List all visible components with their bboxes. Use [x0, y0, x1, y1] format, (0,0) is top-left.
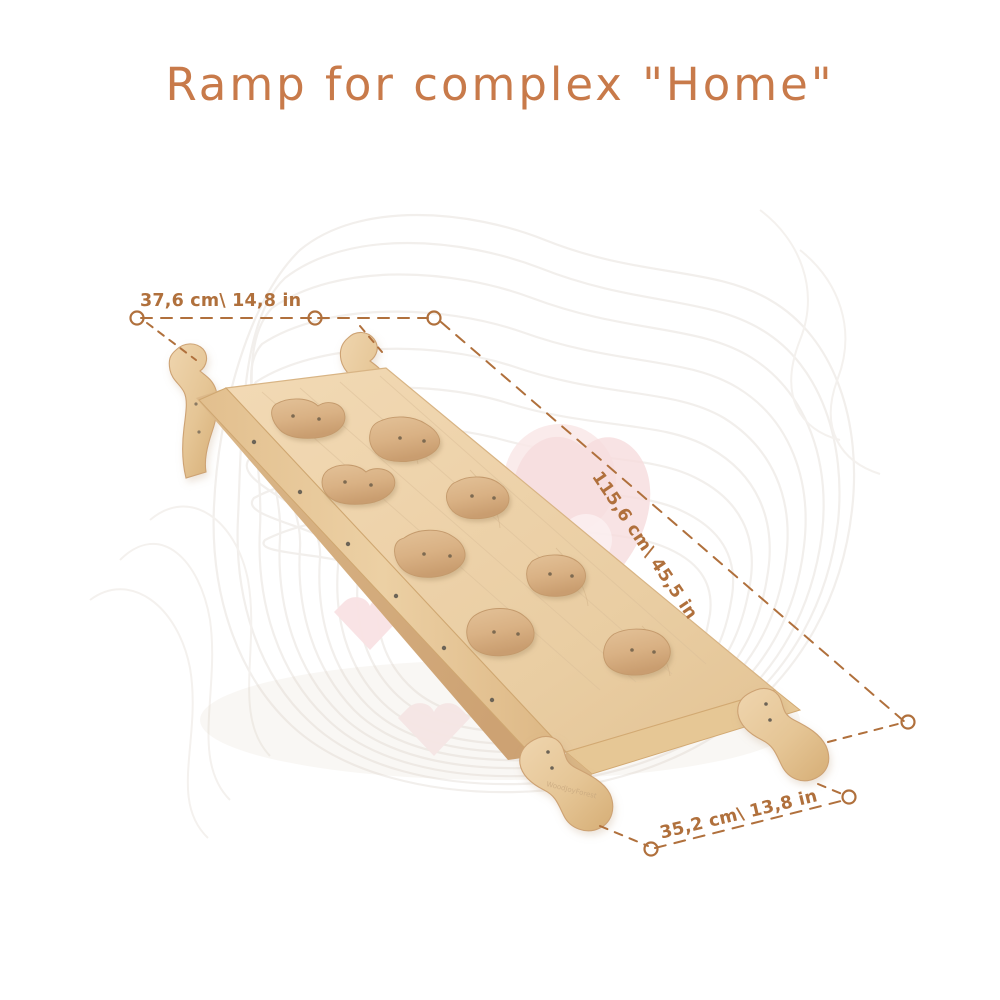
leader-right-lower [818, 784, 842, 794]
dimension-label-width: 37,6 cm\ 14,8 in [140, 291, 301, 311]
dimension-endpoint-depth-left [645, 843, 658, 856]
page-title: Ramp for complex "Home" [0, 58, 1000, 111]
dimension-endpoint-depth-right [843, 791, 856, 804]
dimension-overlay [0, 0, 1000, 1000]
leader-right-upper [828, 724, 898, 742]
leader-top-right [360, 326, 382, 352]
dimension-line-length [441, 322, 905, 722]
leader-width-left [147, 323, 196, 360]
dimension-endpoint-length-end [902, 716, 915, 729]
dimension-endpoint-top-right [428, 312, 441, 325]
product-image-canvas: WoodJoyForest [0, 0, 1000, 1000]
leader-depth-left [600, 826, 648, 846]
